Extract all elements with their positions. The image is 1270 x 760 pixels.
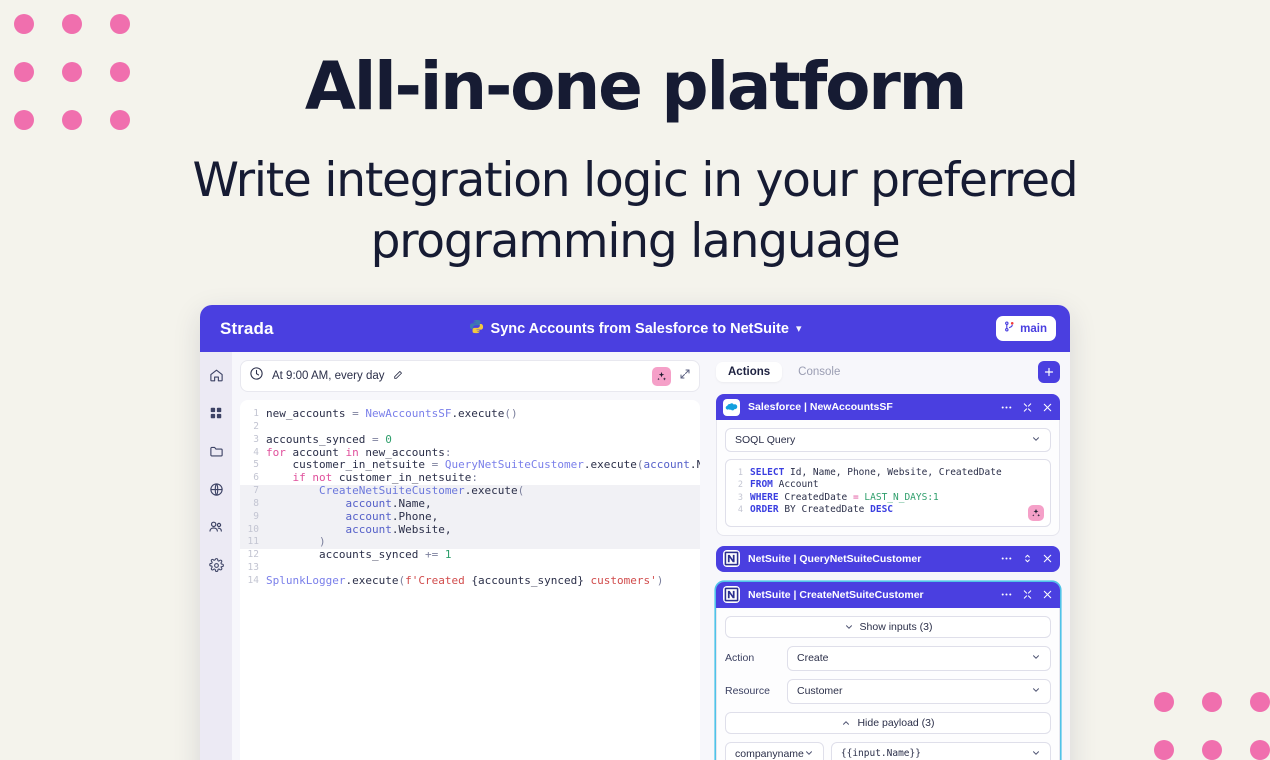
show-inputs-label: Show inputs (3)	[860, 621, 933, 633]
code-text: accounts_synced += 1	[266, 549, 451, 562]
expand-collapse-icon[interactable]	[1022, 553, 1033, 564]
home-icon[interactable]	[205, 364, 227, 386]
close-icon[interactable]	[1042, 402, 1053, 413]
field-label: Resource	[725, 685, 779, 697]
users-icon[interactable]	[205, 516, 227, 538]
line-number: 1	[734, 467, 750, 479]
close-icon[interactable]	[1042, 589, 1053, 600]
app-window-screenshot: Strada Sync Accounts from Salesforce to …	[200, 305, 1070, 760]
sql-line: 1SELECT Id, Name, Phone, Website, Create…	[734, 467, 1042, 479]
app-body: At 9:00 AM, every day 1new_accounts = Ne…	[200, 352, 1070, 760]
grid-icon[interactable]	[205, 402, 227, 424]
line-number: 8	[240, 498, 266, 511]
clock-icon	[249, 366, 264, 386]
action-card-body: SOQL Query1SELECT Id, Name, Phone, Websi…	[716, 420, 1060, 536]
line-number: 4	[240, 447, 266, 460]
field-value: Customer	[797, 685, 843, 697]
sql-line: 2FROM Account	[734, 479, 1042, 491]
expand-icon[interactable]	[679, 367, 691, 385]
chevron-down-icon	[1031, 748, 1041, 760]
sql-editor[interactable]: 1SELECT Id, Name, Phone, Website, Create…	[725, 459, 1051, 527]
sparkle-icon[interactable]	[1028, 505, 1044, 521]
action-card-title: NetSuite | QueryNetSuiteCustomer	[748, 553, 921, 565]
schedule-text: At 9:00 AM, every day	[272, 370, 385, 382]
decorative-dot	[1236, 678, 1270, 726]
line-number: 3	[734, 492, 750, 504]
line-number: 4	[734, 504, 750, 516]
action-card[interactable]: NetSuite | CreateNetSuiteCustomerShow in…	[716, 582, 1060, 760]
action-card-title: NetSuite | CreateNetSuiteCustomer	[748, 589, 924, 601]
decorative-dot	[1236, 726, 1270, 760]
sparkle-icon[interactable]	[652, 367, 671, 386]
panel-tabs: Actions Console	[716, 360, 1060, 384]
decorative-dots-bottom-right	[1140, 678, 1270, 760]
action-card-controls	[1000, 401, 1053, 414]
hide-payload-toggle[interactable]: Hide payload (3)	[725, 712, 1051, 734]
pencil-icon[interactable]	[393, 370, 403, 383]
gear-icon[interactable]	[205, 554, 227, 576]
app-brand: Strada	[220, 319, 274, 339]
code-text: SplunkLogger.execute(f'Created {accounts…	[266, 575, 663, 588]
line-number: 14	[240, 575, 266, 588]
actions-panel: Actions Console Salesforce | NewAccounts…	[710, 352, 1070, 760]
hero-section: All-in-one platform Write integration lo…	[0, 0, 1270, 272]
payload-key-select[interactable]: companyname	[725, 742, 824, 760]
add-action-button[interactable]	[1038, 361, 1060, 383]
line-number: 10	[240, 524, 266, 537]
action-card-body: Show inputs (3)ActionCreateResourceCusto…	[716, 608, 1060, 760]
field-value: Create	[797, 652, 829, 664]
ellipsis-icon[interactable]	[1000, 552, 1013, 565]
document-title: Sync Accounts from Salesforce to NetSuit…	[491, 321, 789, 337]
chevron-down-icon	[804, 748, 814, 760]
chevron-down-icon	[844, 622, 854, 632]
netsuite-icon	[723, 550, 740, 567]
line-number: 2	[240, 421, 266, 434]
python-icon	[469, 319, 484, 339]
page-title: All-in-one platform	[0, 54, 1270, 120]
chevron-down-icon[interactable]: ▾	[796, 322, 802, 335]
action-cards-list: Salesforce | NewAccountsSFSOQL Query1SEL…	[716, 384, 1060, 760]
chevron-up-icon	[841, 718, 851, 728]
branch-name: main	[1020, 323, 1047, 335]
chevron-down-icon	[1031, 685, 1041, 697]
field-row: ResourceCustomer	[725, 679, 1051, 704]
action-card-header[interactable]: Salesforce | NewAccountsSF	[716, 394, 1060, 420]
tab-actions[interactable]: Actions	[716, 362, 782, 382]
line-number: 3	[240, 434, 266, 447]
decorative-dot	[1188, 678, 1236, 726]
decorative-dot	[1140, 726, 1188, 760]
tab-console[interactable]: Console	[786, 362, 852, 382]
line-number: 12	[240, 549, 266, 562]
page-subtitle: Write integration logic in your preferre…	[115, 150, 1155, 272]
action-card[interactable]: NetSuite | QueryNetSuiteCustomer	[716, 546, 1060, 572]
chevron-down-icon	[1031, 434, 1041, 446]
action-card-header[interactable]: NetSuite | QueryNetSuiteCustomer	[716, 546, 1060, 572]
line-number: 11	[240, 536, 266, 549]
line-number: 6	[240, 472, 266, 485]
line-number: 1	[240, 408, 266, 421]
netsuite-icon	[723, 586, 740, 603]
app-titlebar: Strada Sync Accounts from Salesforce to …	[200, 305, 1070, 352]
salesforce-icon	[723, 399, 740, 416]
ellipsis-icon[interactable]	[1000, 401, 1013, 414]
line-number: 5	[240, 459, 266, 472]
schedule-bar[interactable]: At 9:00 AM, every day	[240, 360, 700, 392]
code-line: 12 accounts_synced += 1	[240, 549, 700, 562]
globe-icon[interactable]	[205, 478, 227, 500]
payload-value: {{input.Name}}	[841, 748, 921, 759]
code-editor[interactable]: 1new_accounts = NewAccountsSF.execute()2…	[240, 400, 700, 760]
collapse-icon[interactable]	[1022, 589, 1033, 600]
line-number: 9	[240, 511, 266, 524]
folder-icon[interactable]	[205, 440, 227, 462]
hide-payload-label: Hide payload (3)	[857, 717, 934, 729]
payload-key: companyname	[735, 748, 804, 760]
decorative-dot	[1188, 726, 1236, 760]
action-card-controls	[1000, 588, 1053, 601]
action-card-controls	[1000, 552, 1053, 565]
document-title-group[interactable]: Sync Accounts from Salesforce to NetSuit…	[200, 319, 1070, 339]
git-branch-icon	[1003, 320, 1016, 338]
query-type-value: SOQL Query	[735, 434, 795, 446]
query-type-select[interactable]: SOQL Query	[725, 428, 1051, 452]
branch-selector[interactable]: main	[996, 316, 1056, 341]
editor-column: At 9:00 AM, every day 1new_accounts = Ne…	[232, 352, 710, 760]
field-label: Action	[725, 652, 779, 664]
code-text: new_accounts = NewAccountsSF.execute()	[266, 408, 518, 421]
action-card-title: Salesforce | NewAccountsSF	[748, 401, 893, 413]
ellipsis-icon[interactable]	[1000, 588, 1013, 601]
decorative-dot	[1140, 678, 1188, 726]
field-row: ActionCreate	[725, 646, 1051, 671]
sql-line: 4ORDER BY CreatedDate DESC	[734, 504, 1042, 516]
line-number: 7	[240, 485, 266, 498]
line-number: 2	[734, 479, 750, 491]
code-line: 1new_accounts = NewAccountsSF.execute()	[240, 408, 700, 421]
code-line: 14SplunkLogger.execute(f'Created {accoun…	[240, 575, 700, 588]
field-select-resource[interactable]: Customer	[787, 679, 1051, 704]
payload-row: companyname{{input.Name}}	[725, 742, 1051, 760]
sql-line: 3WHERE CreatedDate = LAST_N_DAYS:1	[734, 492, 1042, 504]
close-icon[interactable]	[1042, 553, 1053, 564]
field-select-action[interactable]: Create	[787, 646, 1051, 671]
chevron-down-icon	[1031, 652, 1041, 664]
action-card-header[interactable]: NetSuite | CreateNetSuiteCustomer	[716, 582, 1060, 608]
payload-value-input[interactable]: {{input.Name}}	[831, 742, 1051, 760]
collapse-icon[interactable]	[1022, 402, 1033, 413]
sidebar-rail	[200, 352, 232, 760]
show-inputs-toggle[interactable]: Show inputs (3)	[725, 616, 1051, 638]
line-number: 13	[240, 562, 266, 575]
action-card[interactable]: Salesforce | NewAccountsSFSOQL Query1SEL…	[716, 394, 1060, 536]
